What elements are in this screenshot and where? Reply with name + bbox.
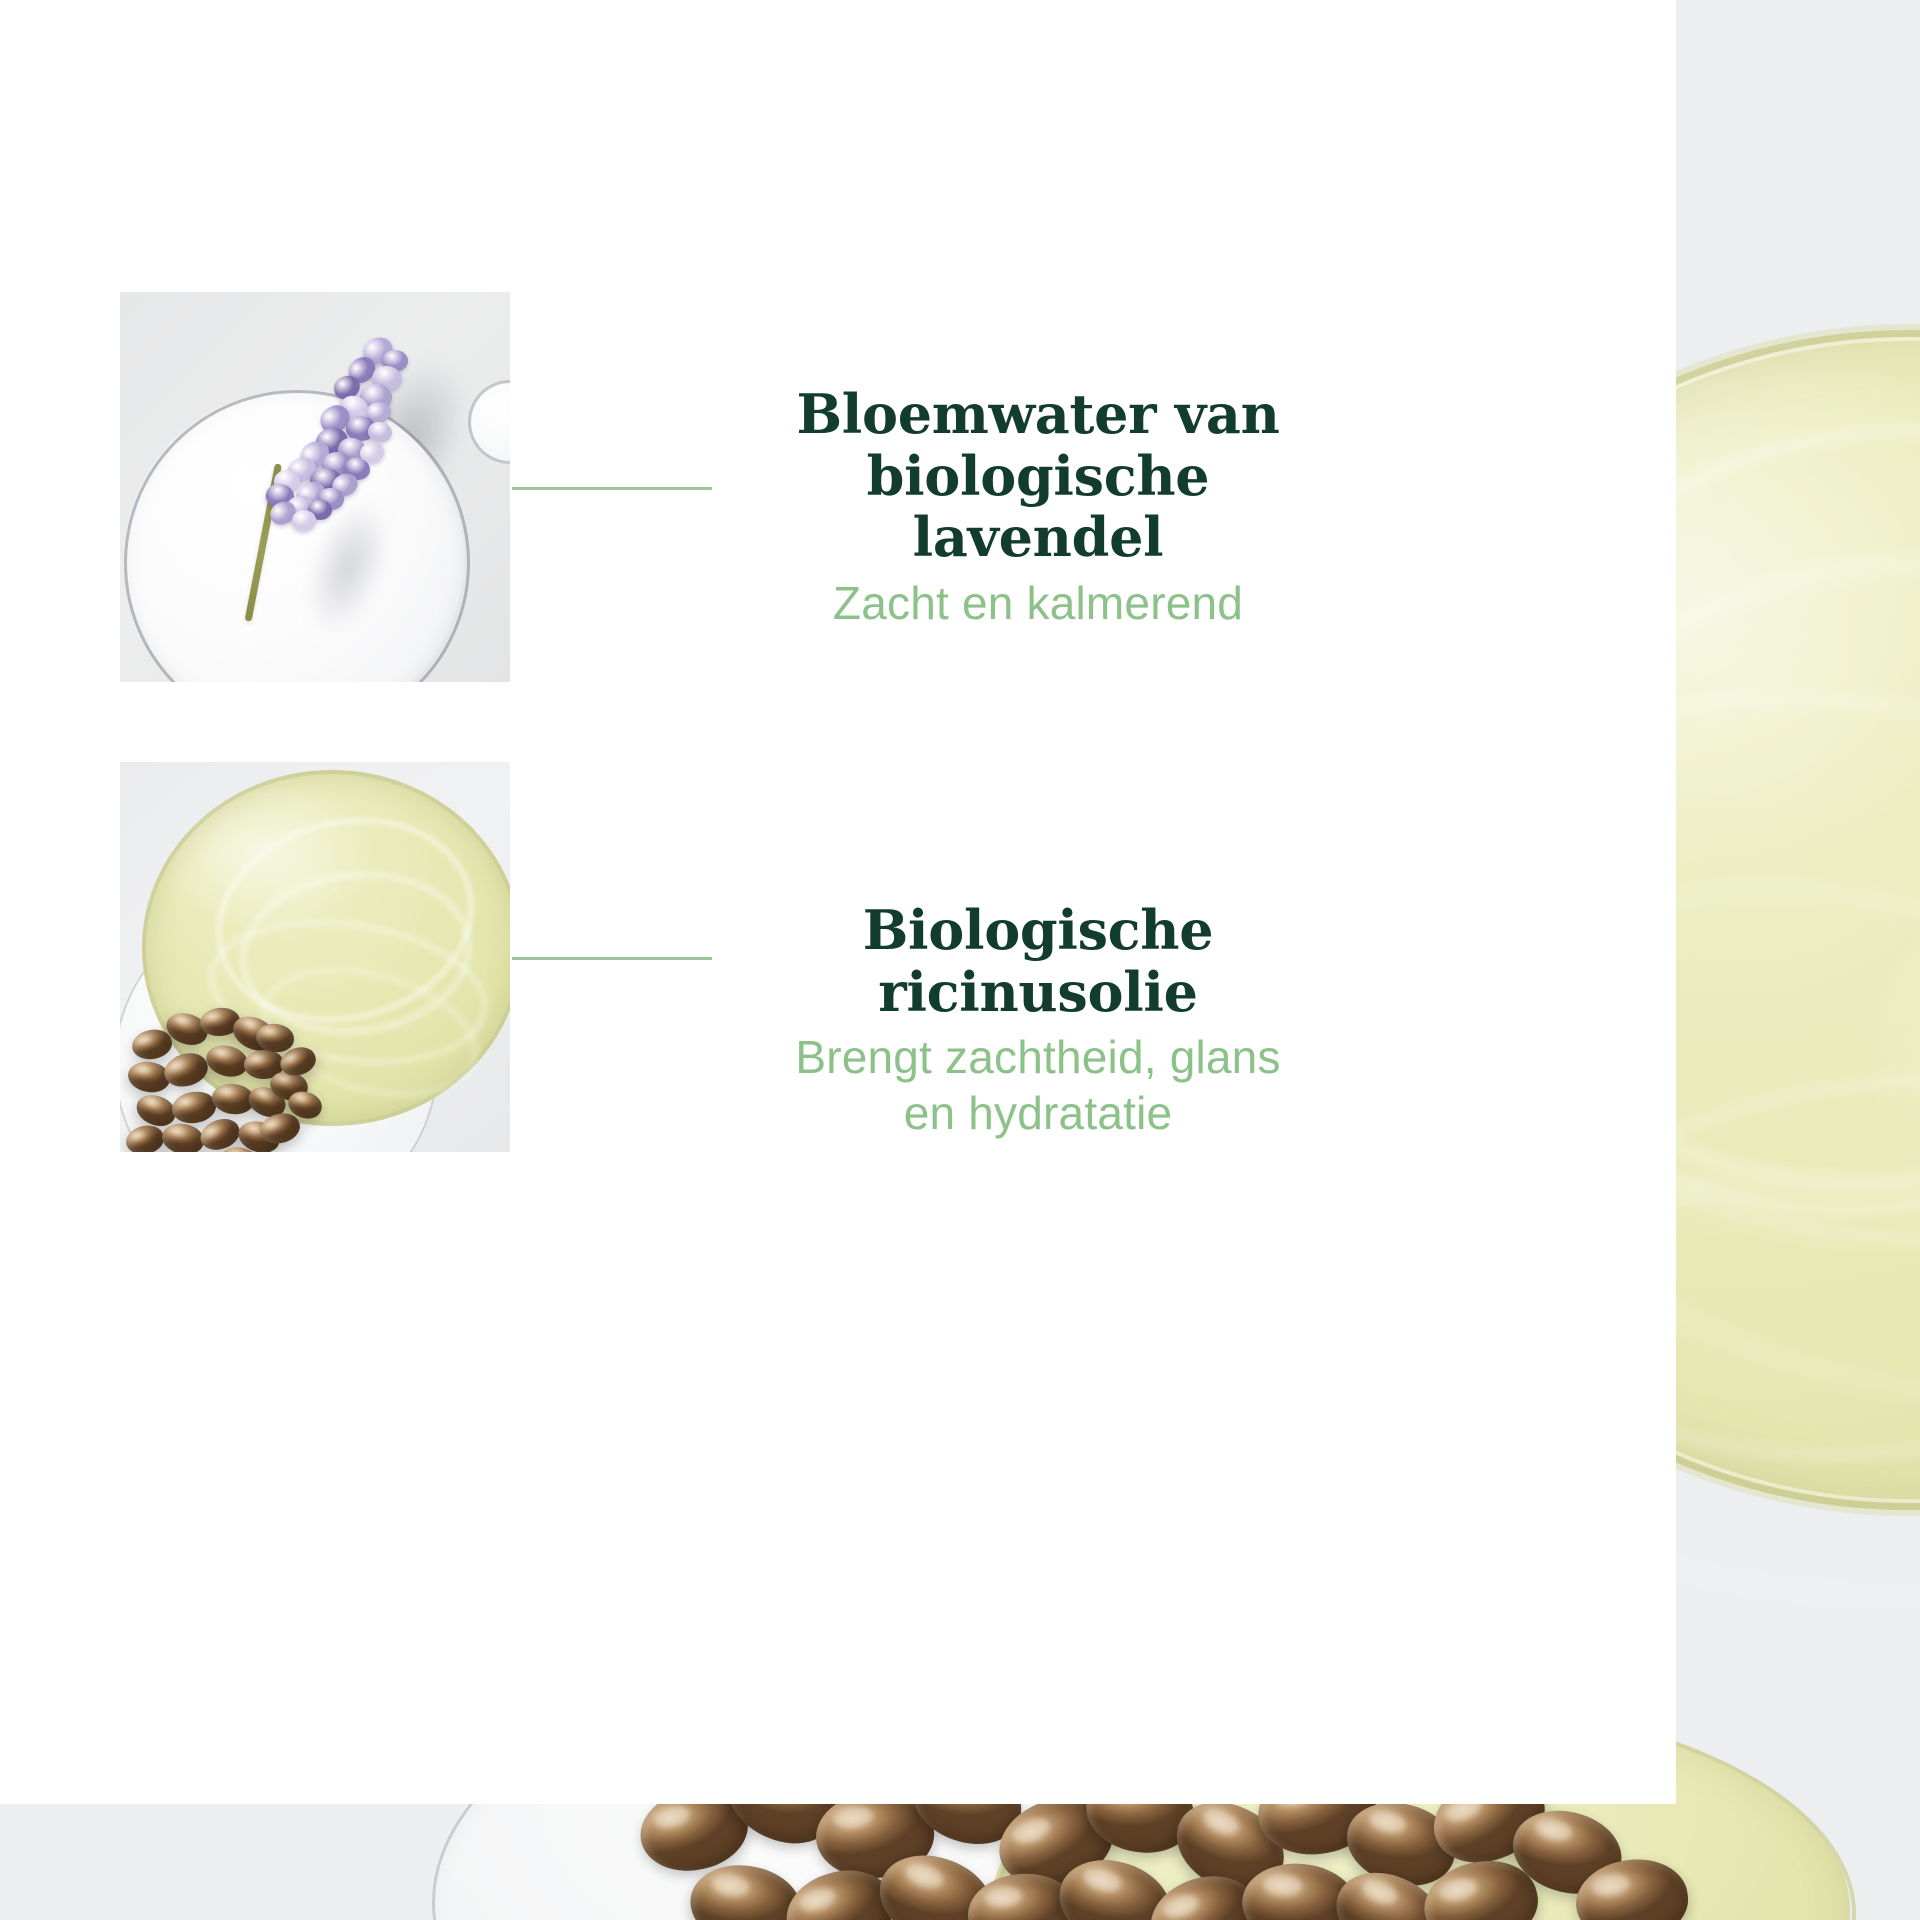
lavender-petri-dish-photo: [120, 292, 510, 682]
connector-line-lavender: [512, 487, 712, 490]
ingredient-title: Bloemwater van biologische lavendel: [744, 384, 1332, 569]
ingredient-title-line-1: Biologische ricinusolie: [863, 898, 1214, 1024]
ingredient-text-castor-oil: Biologische ricinusolie Brengt zachtheid…: [744, 900, 1332, 1141]
castor-oil-dish-photo: [120, 762, 510, 1152]
ingredient-title-line-1: Bloemwater van: [796, 382, 1279, 446]
ingredient-row-castor-oil: [120, 762, 510, 1152]
ingredient-infographic: Bloemwater van biologische lavendel Zach…: [0, 0, 1920, 1920]
ingredient-subtitle-line-1: Zacht en kalmerend: [833, 577, 1243, 629]
ingredient-subtitle: Zacht en kalmerend: [744, 575, 1332, 631]
ingredient-row-lavender: [120, 292, 510, 682]
ingredient-text-lavender: Bloemwater van biologische lavendel Zach…: [744, 384, 1332, 631]
ingredient-subtitle: Brengt zachtheid, glans en hydratatie: [744, 1029, 1332, 1141]
ingredient-title: Biologische ricinusolie: [744, 900, 1332, 1023]
ingredient-subtitle-line-2: en hydratatie: [904, 1087, 1173, 1139]
connector-line-castor-oil: [512, 957, 712, 960]
ingredient-subtitle-line-1: Brengt zachtheid, glans: [795, 1031, 1280, 1083]
ingredient-title-line-2: biologische lavendel: [867, 444, 1210, 570]
